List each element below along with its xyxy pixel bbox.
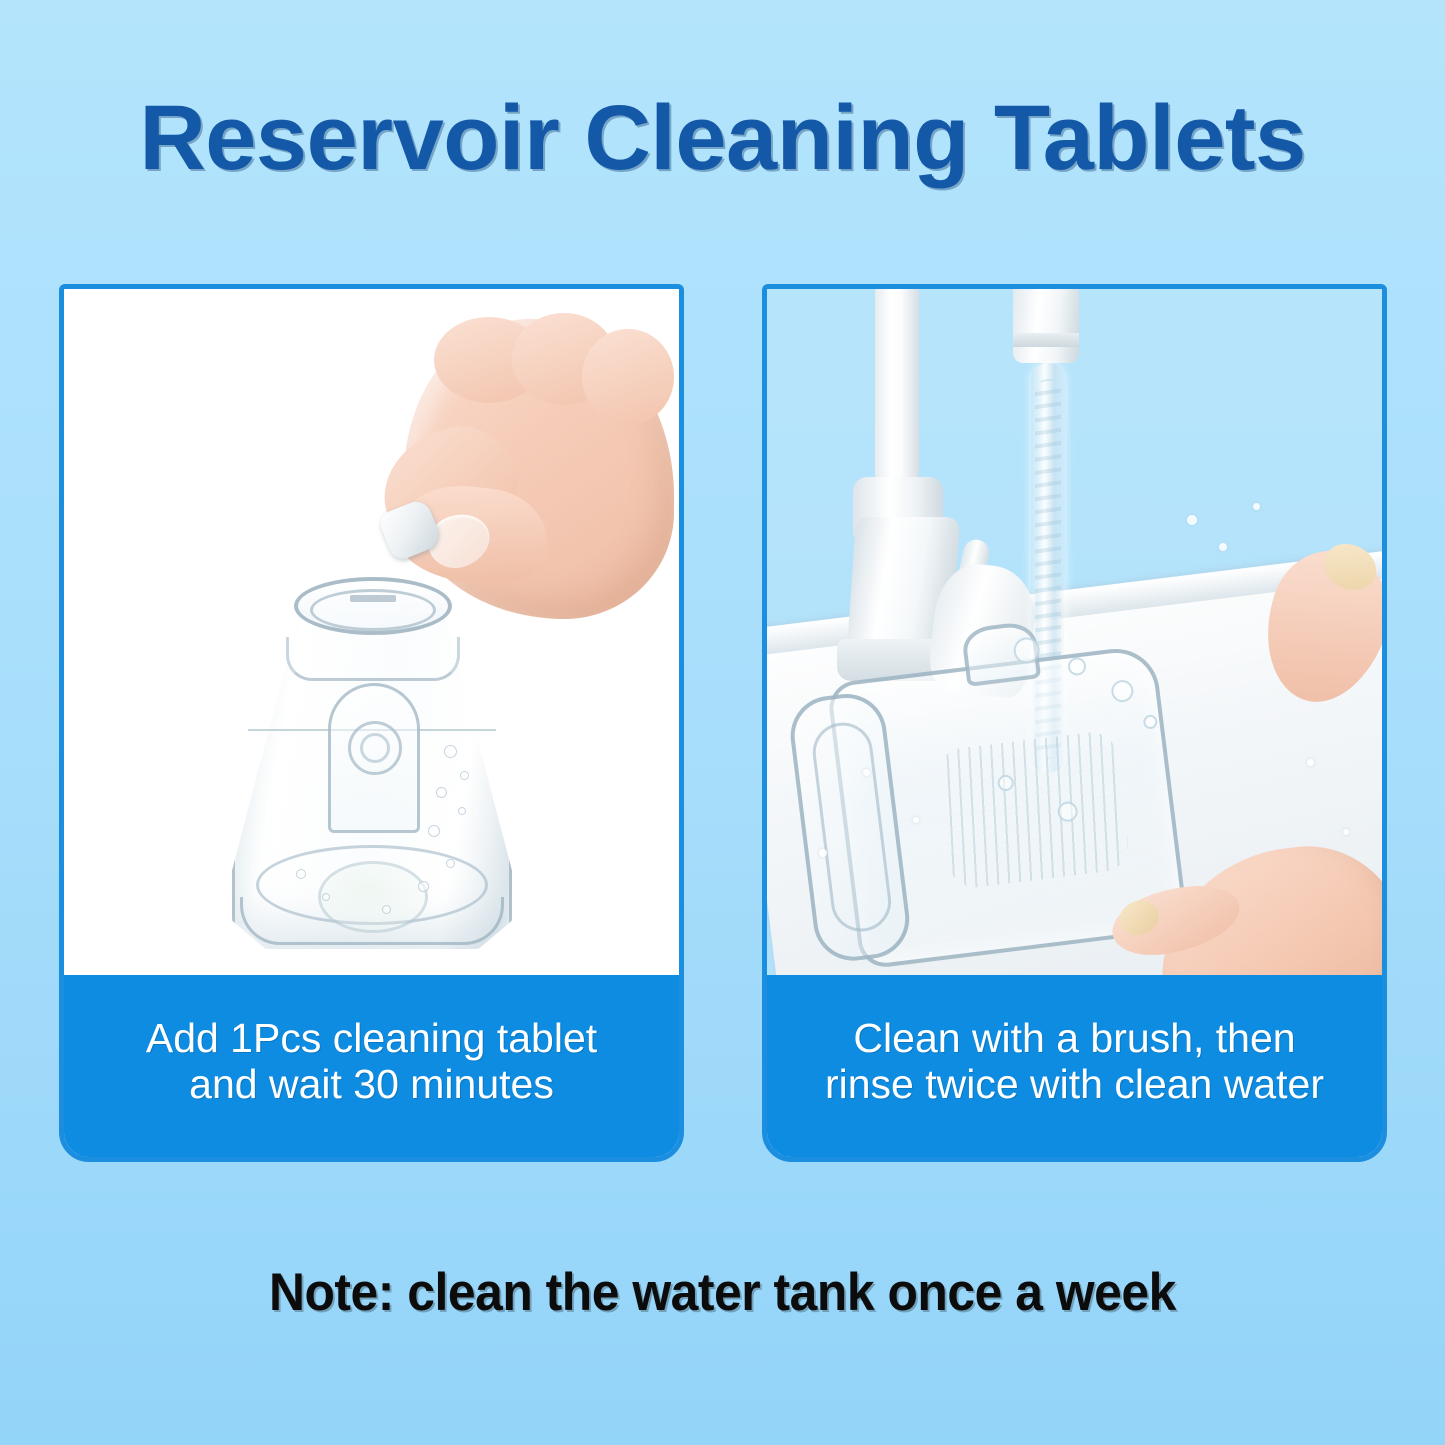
fizz-bubble: [458, 807, 466, 815]
page-title: Reservoir Cleaning Tablets: [0, 92, 1445, 184]
water-droplet: [1307, 759, 1314, 766]
step-1-caption-line-1: Add 1Pcs cleaning tablet: [146, 1015, 597, 1061]
water-droplet: [1219, 543, 1227, 551]
page-title-container: Reservoir Cleaning Tablets: [0, 92, 1445, 184]
water-droplet: [819, 849, 827, 857]
fizz-bubble: [436, 787, 447, 798]
water-droplet: [1187, 515, 1197, 525]
step-1-photo: [64, 289, 679, 975]
water-droplet: [1343, 829, 1349, 835]
fizz-bubble: [322, 893, 330, 901]
faucet-aerator: [1013, 289, 1079, 363]
water-droplet: [1253, 503, 1260, 510]
step-2-caption: Clean with a brush, then rinse twice wit…: [767, 975, 1382, 1157]
fizz-bubble: [444, 745, 457, 758]
step-2-photo: [767, 289, 1382, 975]
fizz-bubble: [382, 905, 391, 914]
fizz-bubble: [418, 881, 429, 892]
tank-bottom-ring: [240, 897, 504, 945]
step-1-caption: Add 1Pcs cleaning tablet and wait 30 min…: [64, 975, 679, 1157]
fizz-bubble: [460, 771, 469, 780]
fizz-bubble: [428, 825, 440, 837]
faucet-aerator-band: [1013, 333, 1079, 347]
tank-valve-ring-inner: [360, 733, 390, 763]
knuckle-shape: [582, 329, 674, 425]
reservoir-tank-illustration: [232, 549, 512, 949]
tank-rim-marking: [350, 595, 396, 602]
fizz-bubble: [446, 859, 455, 868]
water-droplet: [913, 817, 919, 823]
note-container: Note: clean the water tank once a week: [0, 1262, 1445, 1323]
tank-collar: [286, 637, 460, 681]
step-2-caption-line-2: rinse twice with clean water: [825, 1061, 1324, 1107]
water-droplet: [863, 769, 870, 776]
step-card-2: Clean with a brush, then rinse twice wit…: [762, 284, 1387, 1162]
faucet-spout: [875, 289, 919, 498]
tank-ridges: [935, 729, 1131, 890]
step-1-caption-line-2: and wait 30 minutes: [189, 1061, 554, 1107]
fizz-bubble: [296, 869, 306, 879]
note-text: Note: clean the water tank once a week: [269, 1262, 1176, 1323]
step-2-caption-line-1: Clean with a brush, then: [853, 1015, 1295, 1061]
step-card-1: Add 1Pcs cleaning tablet and wait 30 min…: [59, 284, 684, 1162]
